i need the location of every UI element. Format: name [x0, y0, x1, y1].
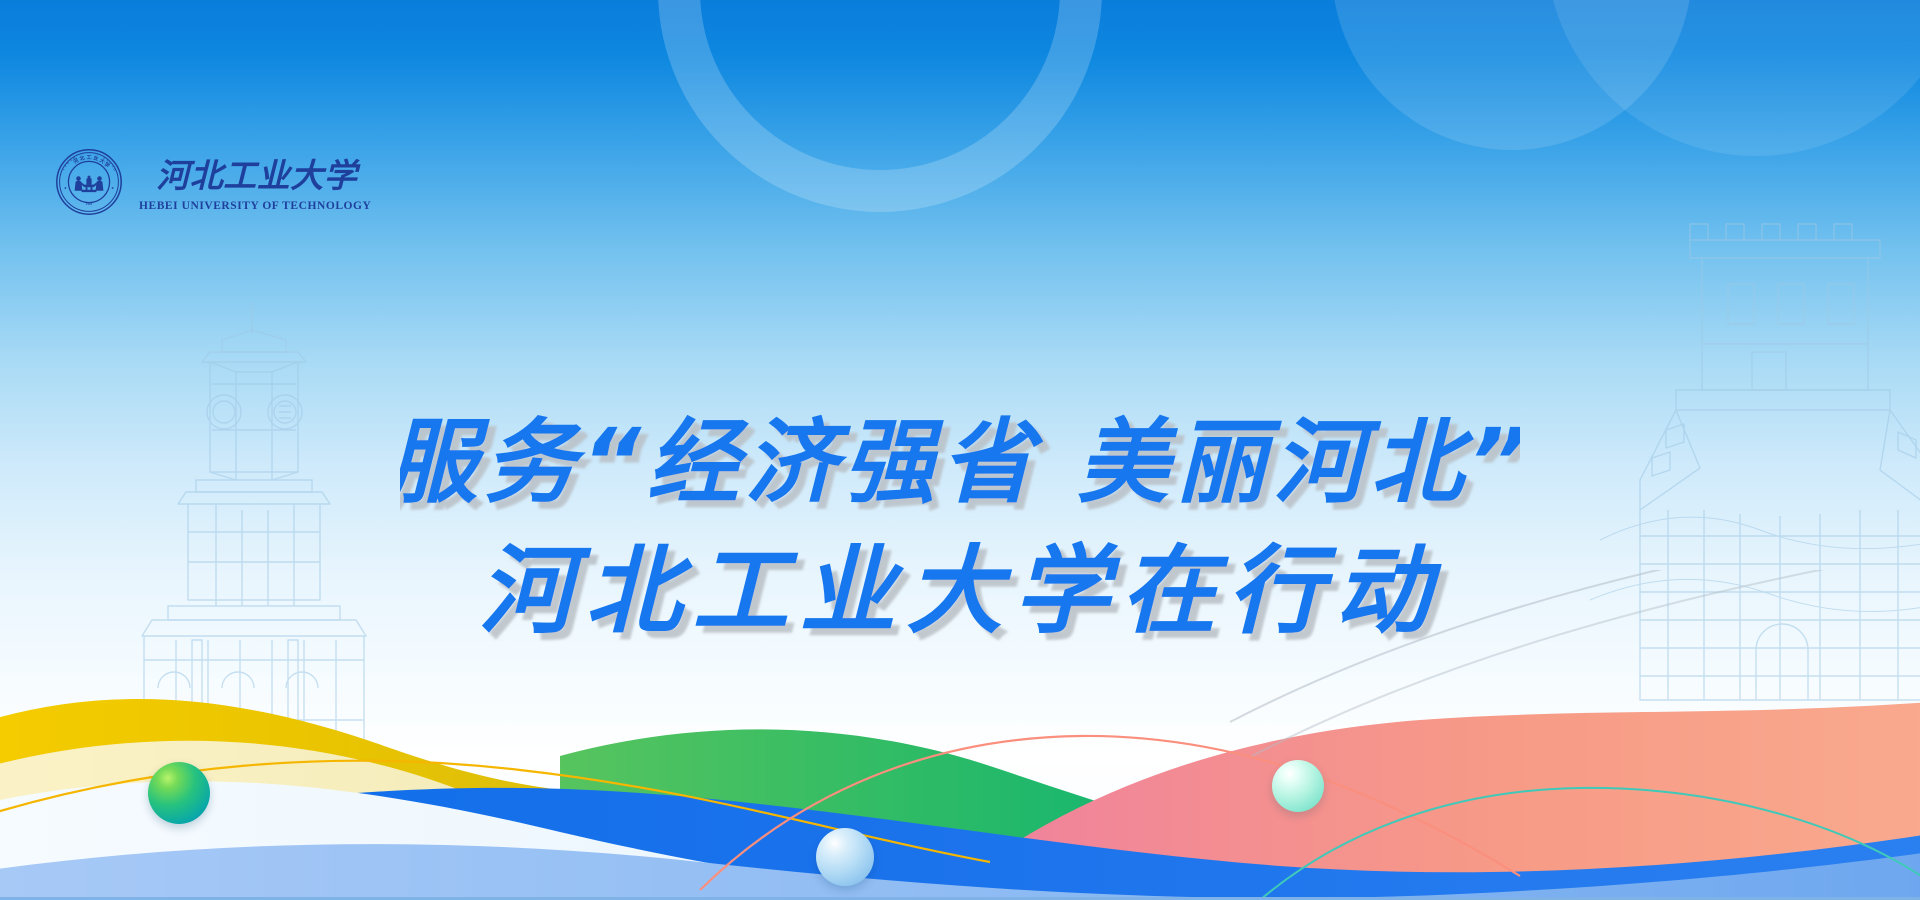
- logo-english-name: HEBEI UNIVERSITY OF TECHNOLOGY: [139, 200, 371, 212]
- university-seal-icon: 工 北 河 业 大 学 H E B E I Y G O L O 1903: [55, 148, 123, 216]
- svg-text:1903: 1903: [86, 202, 93, 206]
- banner-root: 工 北 河 业 大 学 H E B E I Y G O L O 1903: [0, 0, 1920, 900]
- mint-sphere-decoration: [1272, 760, 1324, 812]
- headline-line-1-text: 服务“经济强省 美丽河北”: [400, 409, 1520, 516]
- blue-sphere-decoration: [816, 828, 874, 886]
- logo-chinese-name-text: 河北工业大学: [156, 156, 361, 195]
- university-logo[interactable]: 工 北 河 业 大 学 H E B E I Y G O L O 1903: [55, 148, 371, 216]
- top-right-circle-b-decoration: [1546, 0, 1920, 156]
- top-left-ring-decoration: [658, 0, 1102, 212]
- top-right-circle-a-decoration: [1332, 0, 1692, 150]
- grey-accent-line-a: [1230, 570, 1830, 722]
- green-sphere-decoration: [148, 762, 210, 824]
- logo-text-block: 河北工业大学 HEBEI UNIVERSITY OF TECHNOLOGY: [137, 153, 371, 212]
- logo-chinese-name: 河北工业大学: [137, 153, 371, 197]
- bottom-wave-graphics: [0, 570, 1920, 900]
- svg-text:工: 工: [86, 154, 92, 161]
- headline-line-1: 服务“经济强省 美丽河北”: [0, 408, 1920, 518]
